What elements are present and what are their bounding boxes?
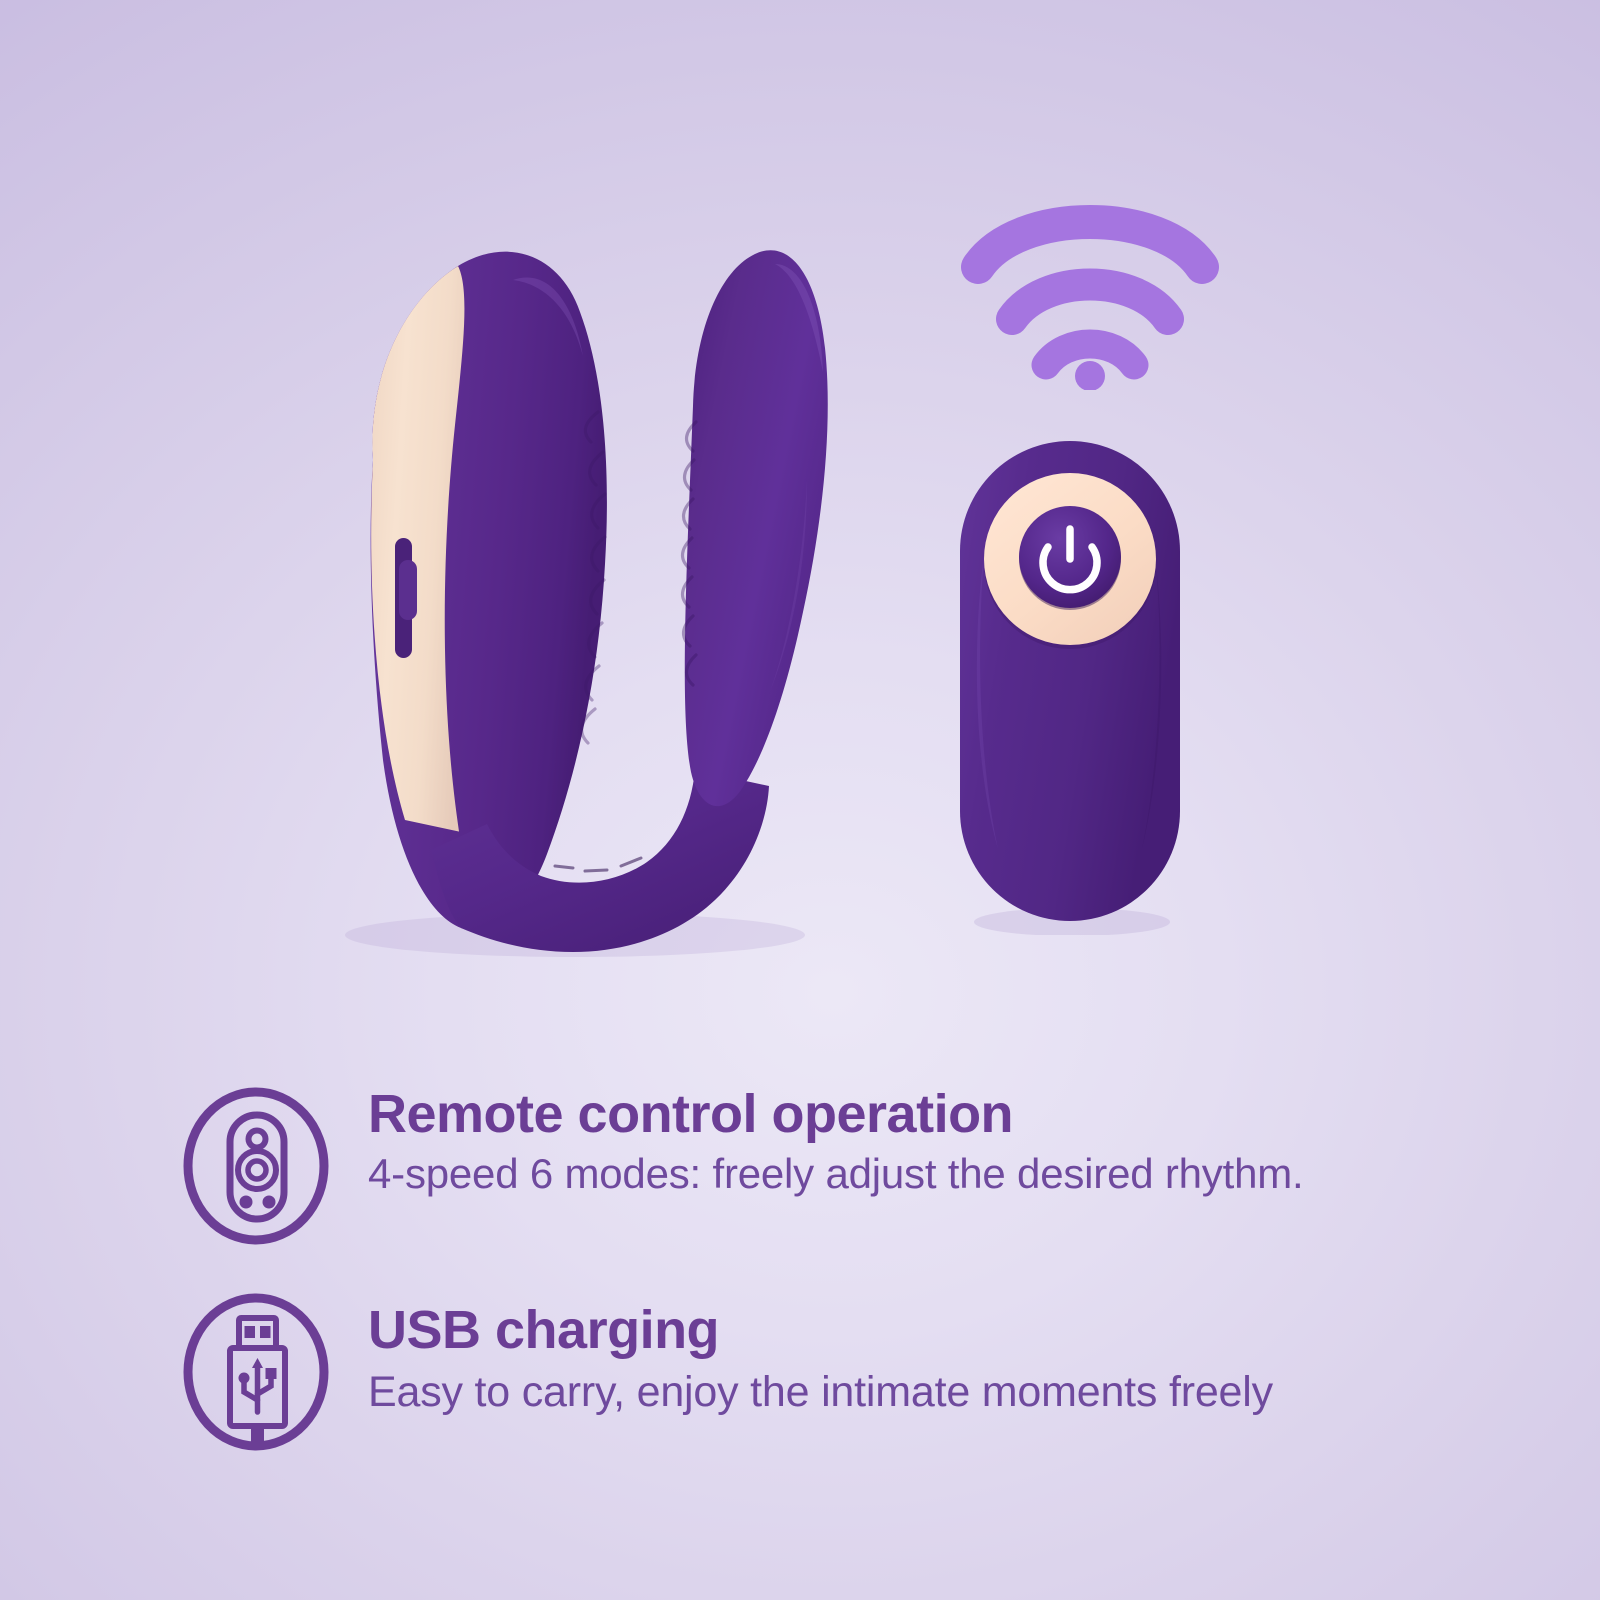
feature-title: Remote control operation	[368, 1086, 1480, 1143]
feature-title: USB charging	[368, 1302, 1480, 1359]
product-right-arm	[683, 250, 828, 806]
u-shaped-product-image	[255, 160, 875, 960]
feature-text-block: USB charging Easy to carry, enjoy the in…	[340, 1288, 1480, 1418]
hero-product-area	[0, 0, 1600, 1040]
feature-item-usb-charging: USB charging Easy to carry, enjoy the in…	[180, 1288, 1480, 1456]
remote-body	[950, 435, 1190, 935]
feature-text-block: Remote control operation 4-speed 6 modes…	[340, 1082, 1480, 1199]
wifi-signal-icon	[950, 175, 1230, 390]
feature-item-remote-control: Remote control operation 4-speed 6 modes…	[180, 1082, 1480, 1250]
product-infographic-page: Remote control operation 4-speed 6 modes…	[0, 0, 1600, 1600]
feature-subtitle: Easy to carry, enjoy the intimate moment…	[368, 1367, 1480, 1418]
feature-subtitle: 4-speed 6 modes: freely adjust the desir…	[368, 1149, 1480, 1199]
remote-control-product	[930, 160, 1250, 960]
remote-control-icon	[180, 1082, 340, 1250]
usb-plug-icon	[180, 1288, 340, 1456]
feature-list: Remote control operation 4-speed 6 modes…	[0, 1060, 1600, 1600]
